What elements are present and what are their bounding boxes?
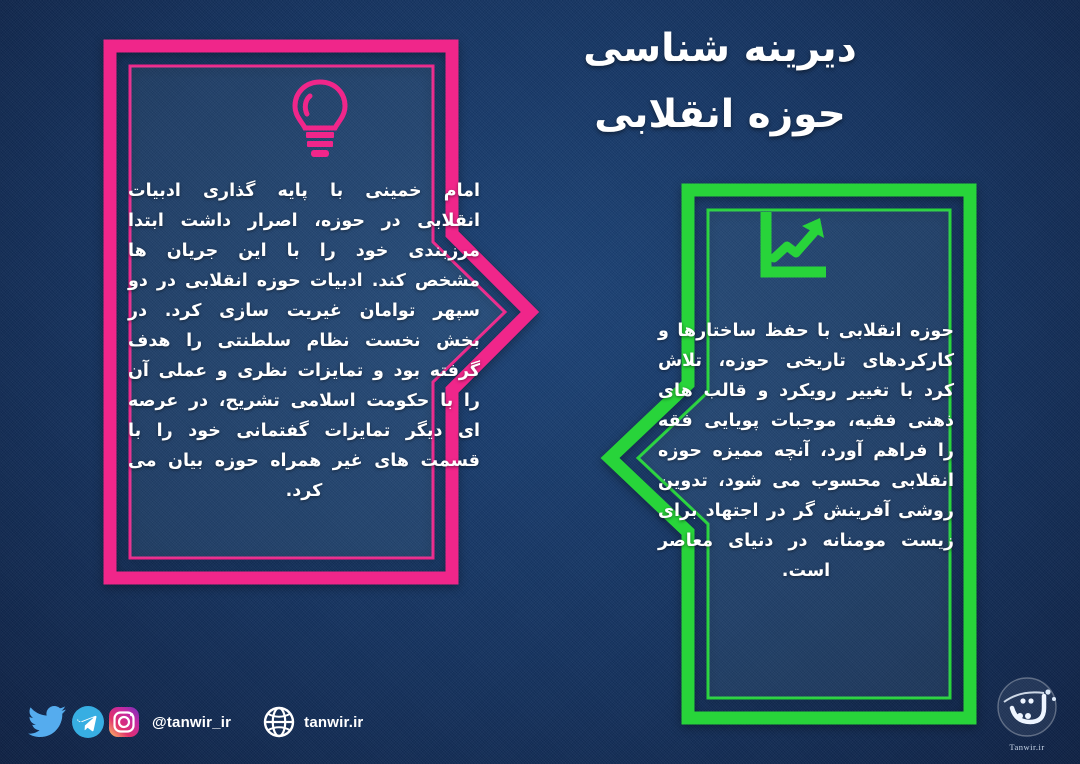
website-text: tanwir.ir bbox=[304, 714, 363, 731]
globe-icon[interactable] bbox=[263, 706, 295, 738]
tanwir-logo-mark bbox=[990, 672, 1064, 742]
tanwir-logo[interactable]: Tanwir.ir bbox=[988, 672, 1066, 754]
page-title: دیرینه شناسی حوزه انقلابی bbox=[510, 16, 930, 148]
twitter-icon[interactable] bbox=[26, 704, 68, 740]
social-icon-group: @tanwir_ir bbox=[26, 704, 231, 740]
telegram-icon[interactable] bbox=[71, 705, 105, 739]
growth-chart-icon bbox=[760, 210, 832, 280]
logo-caption: Tanwir.ir bbox=[988, 742, 1066, 752]
website-group[interactable]: tanwir.ir bbox=[263, 706, 363, 738]
lightbulb-icon bbox=[288, 78, 352, 160]
pink-card-text: امام خمینی با پایه گذاری ادبیات انقلابی … bbox=[128, 176, 480, 506]
title-line-2: حوزه انقلابی bbox=[510, 82, 930, 148]
green-card-text: حوزه انقلابی با حفظ ساختارها و کارکردهای… bbox=[658, 316, 954, 586]
footer-social-bar: @tanwir_ir tanwir.ir bbox=[26, 704, 363, 740]
card-green: حوزه انقلابی با حفظ ساختارها و کارکردهای… bbox=[600, 180, 980, 728]
card-pink: امام خمینی با پایه گذاری ادبیات انقلابی … bbox=[100, 36, 540, 588]
social-handle: @tanwir_ir bbox=[152, 714, 231, 731]
instagram-icon[interactable] bbox=[108, 706, 140, 738]
title-line-1: دیرینه شناسی bbox=[510, 16, 930, 82]
infographic-poster: دیرینه شناسی حوزه انقلابی امام خمینی با … bbox=[0, 0, 1080, 764]
